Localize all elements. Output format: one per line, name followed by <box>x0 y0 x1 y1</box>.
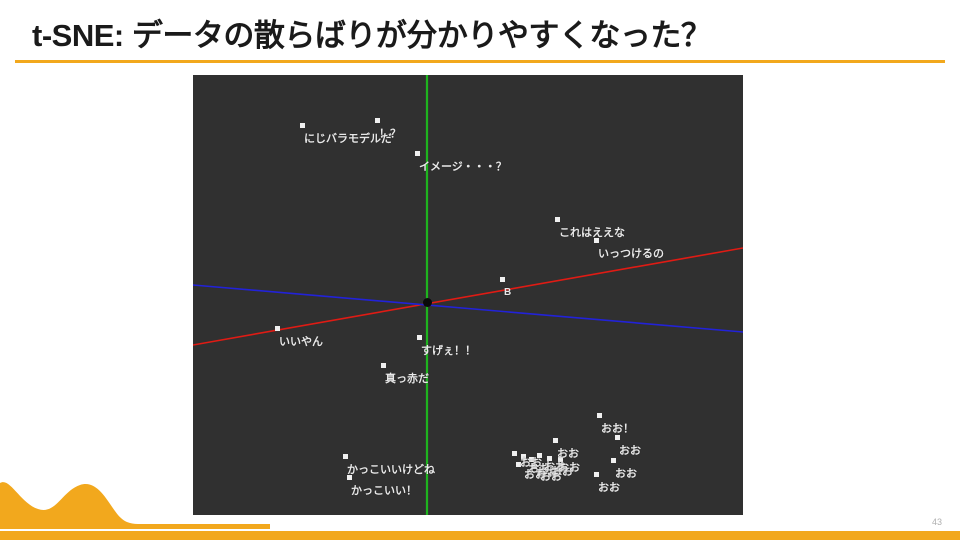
data-point-label: おお <box>557 448 579 460</box>
data-point-label: おお <box>619 445 641 457</box>
data-point-label: ！？ <box>379 128 401 140</box>
data-point-label: B <box>504 287 511 299</box>
data-point-label: イメージ・・・？ <box>419 161 507 173</box>
tsne-scatter-plot: にじバラモデルだ！？イメージ・・・？これはええないっつけるのBいいやんすげぇ！！… <box>193 75 743 515</box>
data-labels-layer: にじバラモデルだ！？イメージ・・・？これはええないっつけるのBいいやんすげぇ！！… <box>193 75 743 515</box>
data-point-label: これはええな <box>559 227 625 239</box>
data-point-label: かっこいい！ <box>351 485 417 497</box>
footer-accent-bar <box>0 531 960 540</box>
orange-wave-decoration <box>0 469 270 529</box>
title-underline-rule <box>15 60 945 63</box>
page-title: t-SNE: データの散らばりが分かりやすくなった？ <box>32 14 932 58</box>
data-point-label: おお！ <box>601 423 634 435</box>
data-point-label: いっつけるの <box>598 248 664 260</box>
page-number: 43 <box>932 517 942 527</box>
data-point-label: いいやん <box>279 336 323 348</box>
data-point-label: おお <box>615 468 637 480</box>
data-point-label: おお <box>598 482 620 494</box>
data-point-label: おお <box>540 471 562 483</box>
data-point-label: すげぇ！！ <box>421 345 476 357</box>
data-point-label: 真っ赤だ <box>385 373 429 385</box>
data-point-label: かっこいいけどね <box>347 464 435 476</box>
slide-canvas: t-SNE: データの散らばりが分かりやすくなった？ にじバラモデルだ！？イメー… <box>0 0 960 540</box>
